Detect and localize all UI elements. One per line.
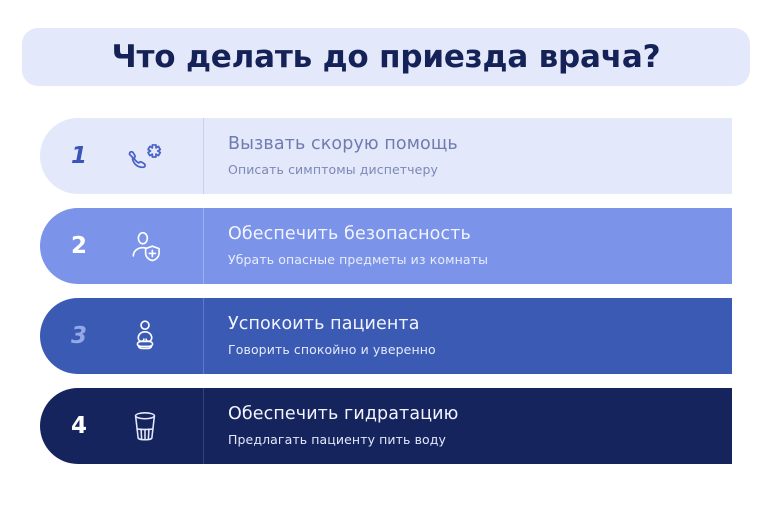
step-divider — [203, 208, 205, 284]
meditating-person-icon — [114, 317, 176, 355]
page-title-banner: Что делать до приезда врача? — [22, 28, 750, 86]
step-body: Успокоить пациента Говорить спокойно и у… — [204, 298, 732, 374]
step-cap: 2 — [40, 208, 204, 284]
step-body: Обеспечить безопасность Убрать опасные п… — [204, 208, 732, 284]
step-subtitle: Описать симптомы диспетчеру — [228, 163, 732, 177]
step-divider — [203, 298, 205, 374]
step-cap: 3 — [40, 298, 204, 374]
step-number: 2 — [40, 235, 114, 258]
step-title: Обеспечить гидратацию — [228, 404, 732, 424]
step-body: Вызвать скорую помощь Описать симптомы д… — [204, 118, 732, 194]
step-row[interactable]: 3 Успокоить пациента Говорить спокойно и… — [40, 298, 732, 374]
step-row[interactable]: 2 Обеспечить безопасность Убрать опасные… — [40, 208, 732, 284]
step-divider — [203, 388, 205, 464]
step-number: 3 — [40, 325, 114, 348]
step-subtitle: Убрать опасные предметы из комнаты — [228, 253, 732, 267]
step-subtitle: Говорить спокойно и уверенно — [228, 343, 732, 357]
step-row[interactable]: 4 Обеспечить гидратацию Предлагать пацие… — [40, 388, 732, 464]
step-title: Успокоить пациента — [228, 314, 732, 334]
step-divider — [203, 118, 205, 194]
steps-list: 1 Вызвать скорую помощь Описать симптомы… — [40, 118, 732, 478]
person-shield-plus-icon — [114, 227, 176, 265]
step-subtitle: Предлагать пациенту пить воду — [228, 433, 732, 447]
page-title: Что делать до приезда врача? — [112, 42, 661, 73]
water-glass-icon — [114, 408, 176, 444]
step-cap: 1 — [40, 118, 204, 194]
step-title: Вызвать скорую помощь — [228, 134, 732, 154]
step-cap: 4 — [40, 388, 204, 464]
step-title: Обеспечить безопасность — [228, 224, 732, 244]
step-row[interactable]: 1 Вызвать скорую помощь Описать симптомы… — [40, 118, 732, 194]
step-number: 1 — [40, 145, 114, 168]
step-body: Обеспечить гидратацию Предлагать пациент… — [204, 388, 732, 464]
step-number: 4 — [40, 415, 114, 438]
phone-medical-cross-icon — [114, 137, 176, 175]
